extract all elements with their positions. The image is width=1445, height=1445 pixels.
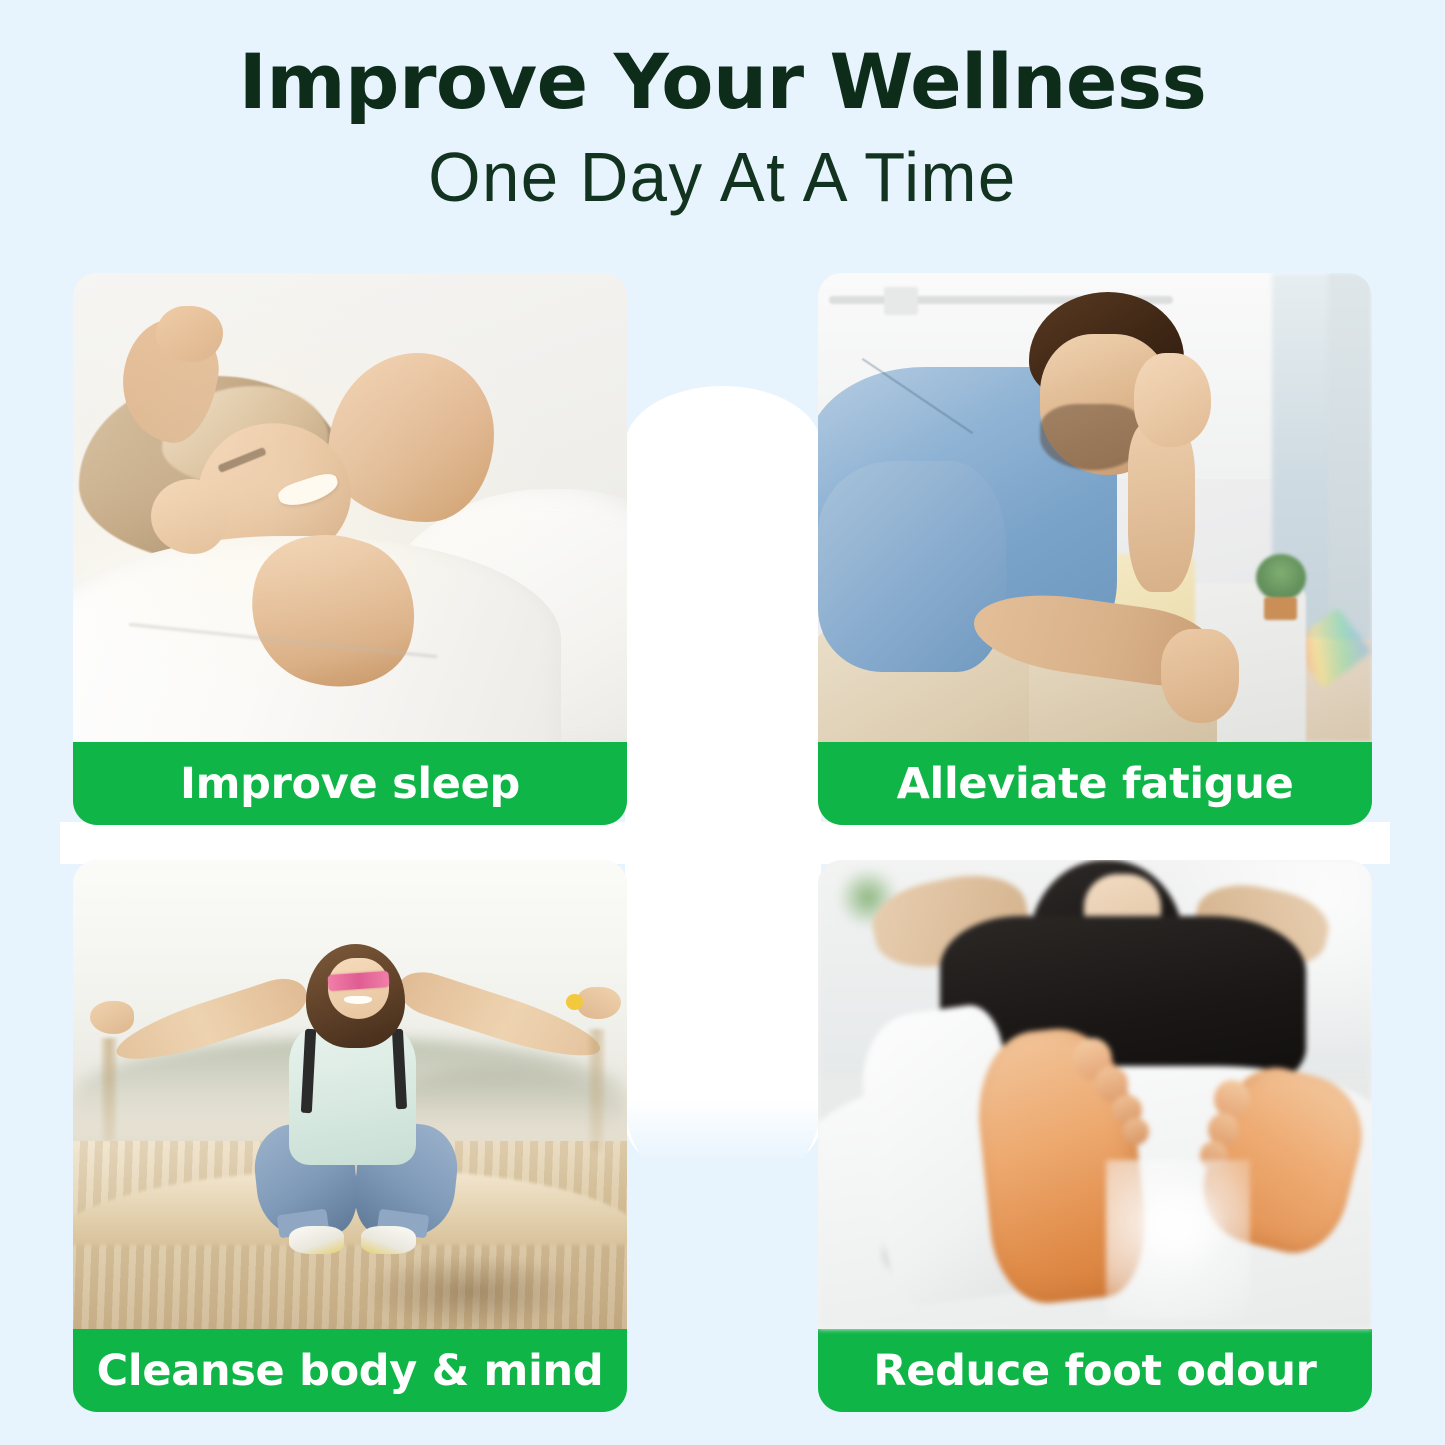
photo-reduce-foot-odour xyxy=(818,860,1372,1329)
denim-sleeve-shape xyxy=(818,461,1006,672)
benefit-label-cleanse-body-mind: Cleanse body & mind xyxy=(73,1329,627,1412)
wellness-promo-poster: Improve Your Wellness One Day At A Time xyxy=(0,0,1445,1445)
photo-improve-sleep xyxy=(73,273,627,742)
hand-on-forehead-shape xyxy=(1134,353,1212,447)
photo-cleanse-body-mind xyxy=(73,860,627,1329)
photo-alleviate-fatigue xyxy=(818,273,1372,742)
sunlight-overlay xyxy=(73,273,627,742)
benefit-card-improve-sleep[interactable]: Improve sleep xyxy=(73,273,627,825)
resting-hand-shape xyxy=(1161,629,1239,723)
falling-sand-right-shape xyxy=(588,1029,605,1151)
falling-sand-left-shape xyxy=(101,1038,118,1141)
benefit-card-reduce-foot-odour[interactable]: Reduce foot odour xyxy=(818,860,1372,1412)
header-block: Improve Your Wellness One Day At A Time xyxy=(0,42,1445,221)
ceiling-light-shape xyxy=(884,287,917,315)
benefit-card-grid: Improve sleep xyxy=(73,273,1372,1412)
plant-shape xyxy=(1256,554,1306,601)
left-sneaker-shape xyxy=(289,1226,344,1254)
benefit-card-alleviate-fatigue[interactable]: Alleviate fatigue xyxy=(818,273,1372,825)
right-toe-1 xyxy=(1214,1080,1250,1118)
curtain-shape xyxy=(1328,273,1372,658)
plant-pot-shape xyxy=(1264,597,1297,620)
left-hand-shape xyxy=(90,1001,134,1034)
raised-forearm-shape xyxy=(1128,423,1194,592)
bracelet-shape xyxy=(566,994,583,1010)
benefit-label-improve-sleep: Improve sleep xyxy=(73,742,627,825)
page-subtitle: One Day At A Time xyxy=(29,134,1416,222)
bath-foam-highlight-shape xyxy=(1139,1179,1228,1273)
sand-shadow-shape xyxy=(361,1254,583,1329)
benefit-label-alleviate-fatigue: Alleviate fatigue xyxy=(818,742,1372,825)
page-title: Improve Your Wellness xyxy=(0,42,1445,122)
benefit-label-reduce-foot-odour: Reduce foot odour xyxy=(818,1329,1372,1412)
right-sneaker-shape xyxy=(361,1226,416,1254)
benefit-card-cleanse-body-mind[interactable]: Cleanse body & mind xyxy=(73,860,627,1412)
